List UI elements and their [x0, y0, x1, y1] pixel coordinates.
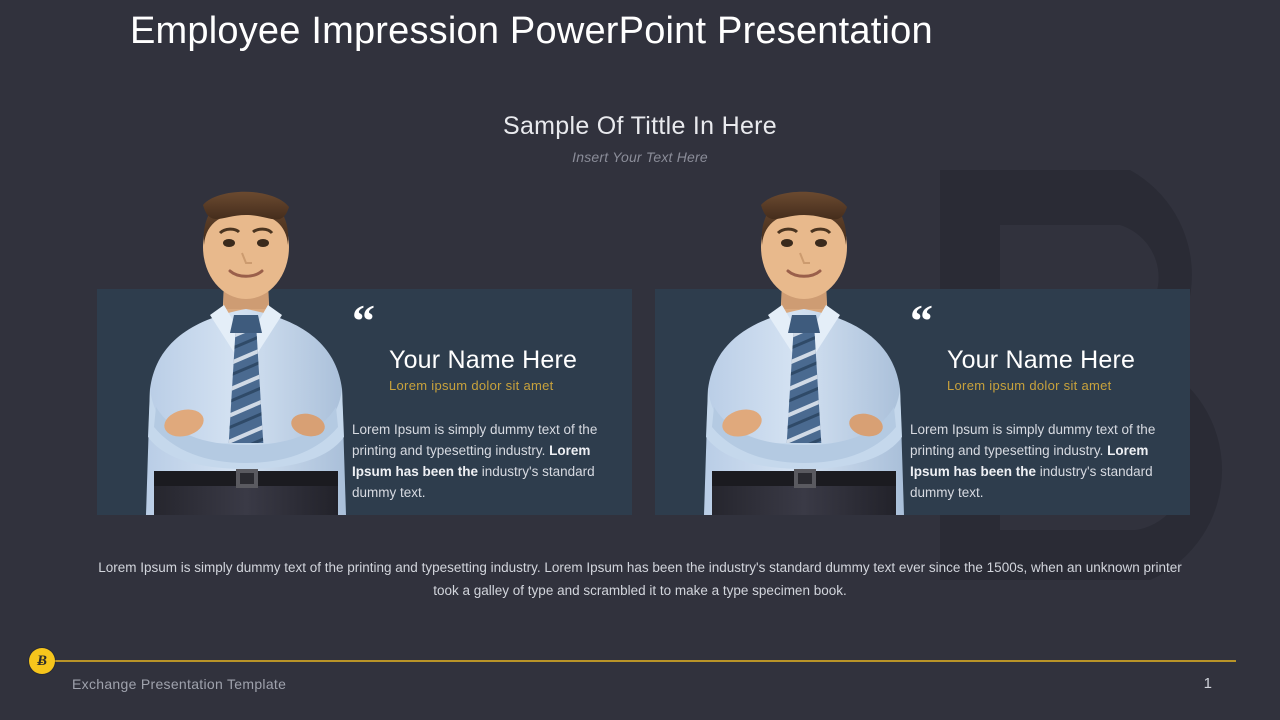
profile-text-block: “ Your Name Here Lorem ipsum dolor sit a… [352, 306, 614, 503]
section-heading: Sample Of Tittle In Here Insert Your Tex… [0, 112, 1280, 165]
slide-title: Employee Impression PowerPoint Presentat… [130, 10, 933, 53]
profile-name: Your Name Here [389, 346, 614, 375]
profile-card[interactable]: “ Your Name Here Lorem ipsum dolor sit a… [97, 289, 632, 515]
profile-role: Lorem ipsum dolor sit amet [389, 378, 614, 393]
section-subtitle: Insert Your Text Here [0, 149, 1280, 165]
footer-label: Exchange Presentation Template [72, 676, 286, 692]
quote-mark-icon: “ [910, 306, 1172, 336]
profile-description: Lorem Ipsum is simply dummy text of the … [910, 419, 1172, 503]
page-number: 1 [1204, 675, 1212, 692]
profile-photo-1 [132, 175, 360, 515]
summary-paragraph: Lorem Ipsum is simply dummy text of the … [96, 556, 1184, 602]
profile-name: Your Name Here [947, 346, 1172, 375]
footer-divider [40, 660, 1236, 662]
profile-role: Lorem ipsum dolor sit amet [947, 378, 1172, 393]
profile-card[interactable]: “ Your Name Here Lorem ipsum dolor sit a… [655, 289, 1190, 515]
profile-description: Lorem Ipsum is simply dummy text of the … [352, 419, 614, 503]
profile-text-block: “ Your Name Here Lorem ipsum dolor sit a… [910, 306, 1172, 503]
profile-photo-2 [690, 175, 918, 515]
bitcoin-logo-icon: Ƀ [29, 648, 55, 674]
presentation-slide: Employee Impression PowerPoint Presentat… [0, 0, 1280, 720]
section-title: Sample Of Tittle In Here [0, 112, 1280, 141]
quote-mark-icon: “ [352, 306, 614, 336]
